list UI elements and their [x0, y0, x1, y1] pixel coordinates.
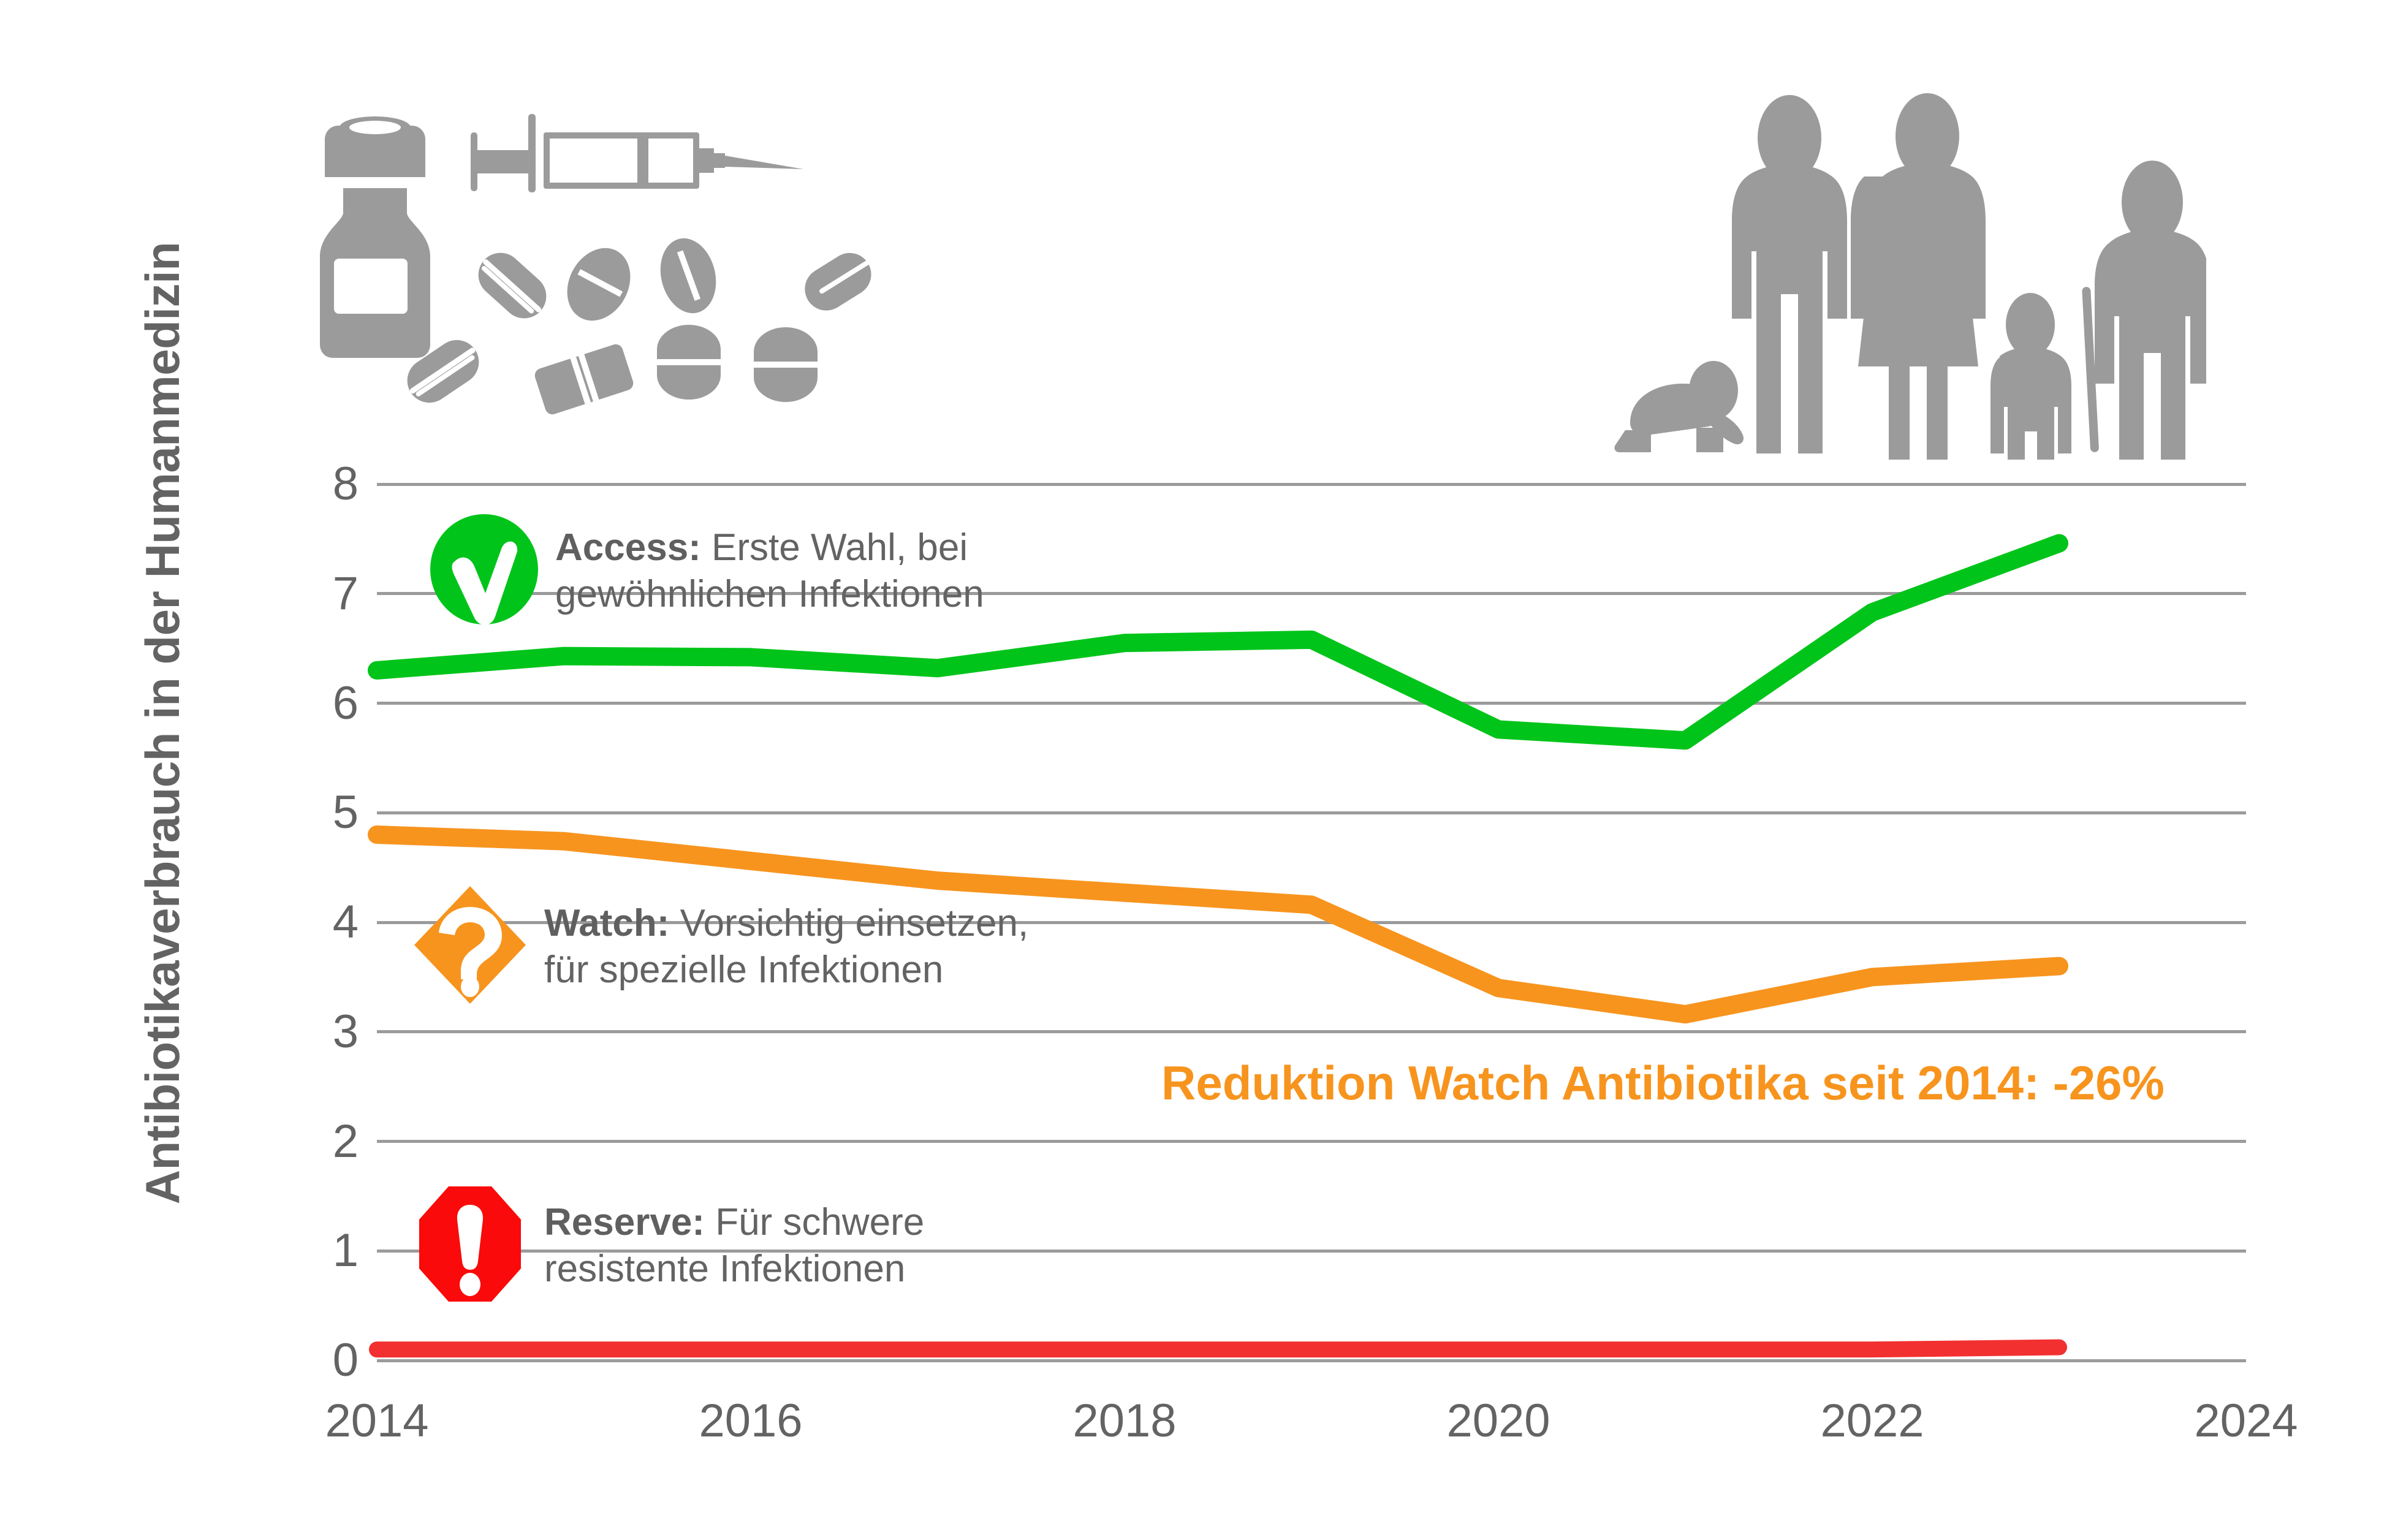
legend-item-access[interactable]: Access: Erste Wahl, bei gewöhnlichen Inf…	[429, 514, 984, 628]
y-tick-label: 8	[285, 461, 359, 507]
legend-reserve-label: Reserve: Für schwere resistente Infektio…	[544, 1199, 924, 1292]
legend-access-label: Access: Erste Wahl, bei gewöhnlichen Inf…	[555, 525, 984, 617]
question-diamond-icon	[412, 884, 528, 1009]
legend-reserve-title: Reserve:	[544, 1201, 705, 1243]
y-tick-label: 4	[285, 899, 359, 946]
y-axis-tick-labels: 876543210	[285, 484, 359, 1360]
x-tick-label: 2024	[2154, 1394, 2338, 1447]
chart-canvas: Antibiotikaverbrauch in der Humanmedizin	[0, 0, 2387, 1540]
y-tick-label: 5	[285, 789, 359, 836]
x-tick-label: 2018	[1033, 1394, 1216, 1447]
legend-watch-label: Watch: Vorsichtig einsetzen, für speziel…	[544, 900, 1028, 993]
series-line-reserve	[377, 1348, 2059, 1350]
x-tick-label: 2016	[659, 1394, 843, 1447]
y-tick-label: 3	[285, 1009, 359, 1055]
y-tick-label: 6	[285, 680, 359, 727]
y-tick-label: 0	[285, 1337, 359, 1384]
y-axis-title: Antibiotikaverbrauch in der Humanmedizin	[126, 86, 199, 1360]
legend-item-reserve[interactable]: Reserve: Für schwere resistente Infektio…	[412, 1183, 924, 1308]
exclamation-octagon-icon	[412, 1183, 528, 1308]
y-tick-label: 7	[285, 571, 359, 617]
legend-item-watch[interactable]: Watch: Vorsichtig einsetzen, für speziel…	[412, 884, 1028, 1009]
legend-access-title: Access:	[555, 526, 701, 569]
x-tick-label: 2014	[285, 1394, 469, 1447]
x-tick-label: 2022	[1780, 1394, 1964, 1447]
y-tick-label: 2	[285, 1118, 359, 1165]
reduction-annotation: Reduktion Watch Antibiotika seit 2014: -…	[1161, 1055, 2165, 1111]
x-tick-label: 2020	[1406, 1394, 1590, 1447]
y-tick-label: 1	[285, 1227, 359, 1274]
check-badge-icon	[429, 514, 539, 628]
legend-watch-title: Watch:	[544, 902, 669, 944]
medicine-bottle-syringe-pills-icon	[300, 92, 876, 435]
family-people-group-icon	[1593, 80, 2206, 460]
